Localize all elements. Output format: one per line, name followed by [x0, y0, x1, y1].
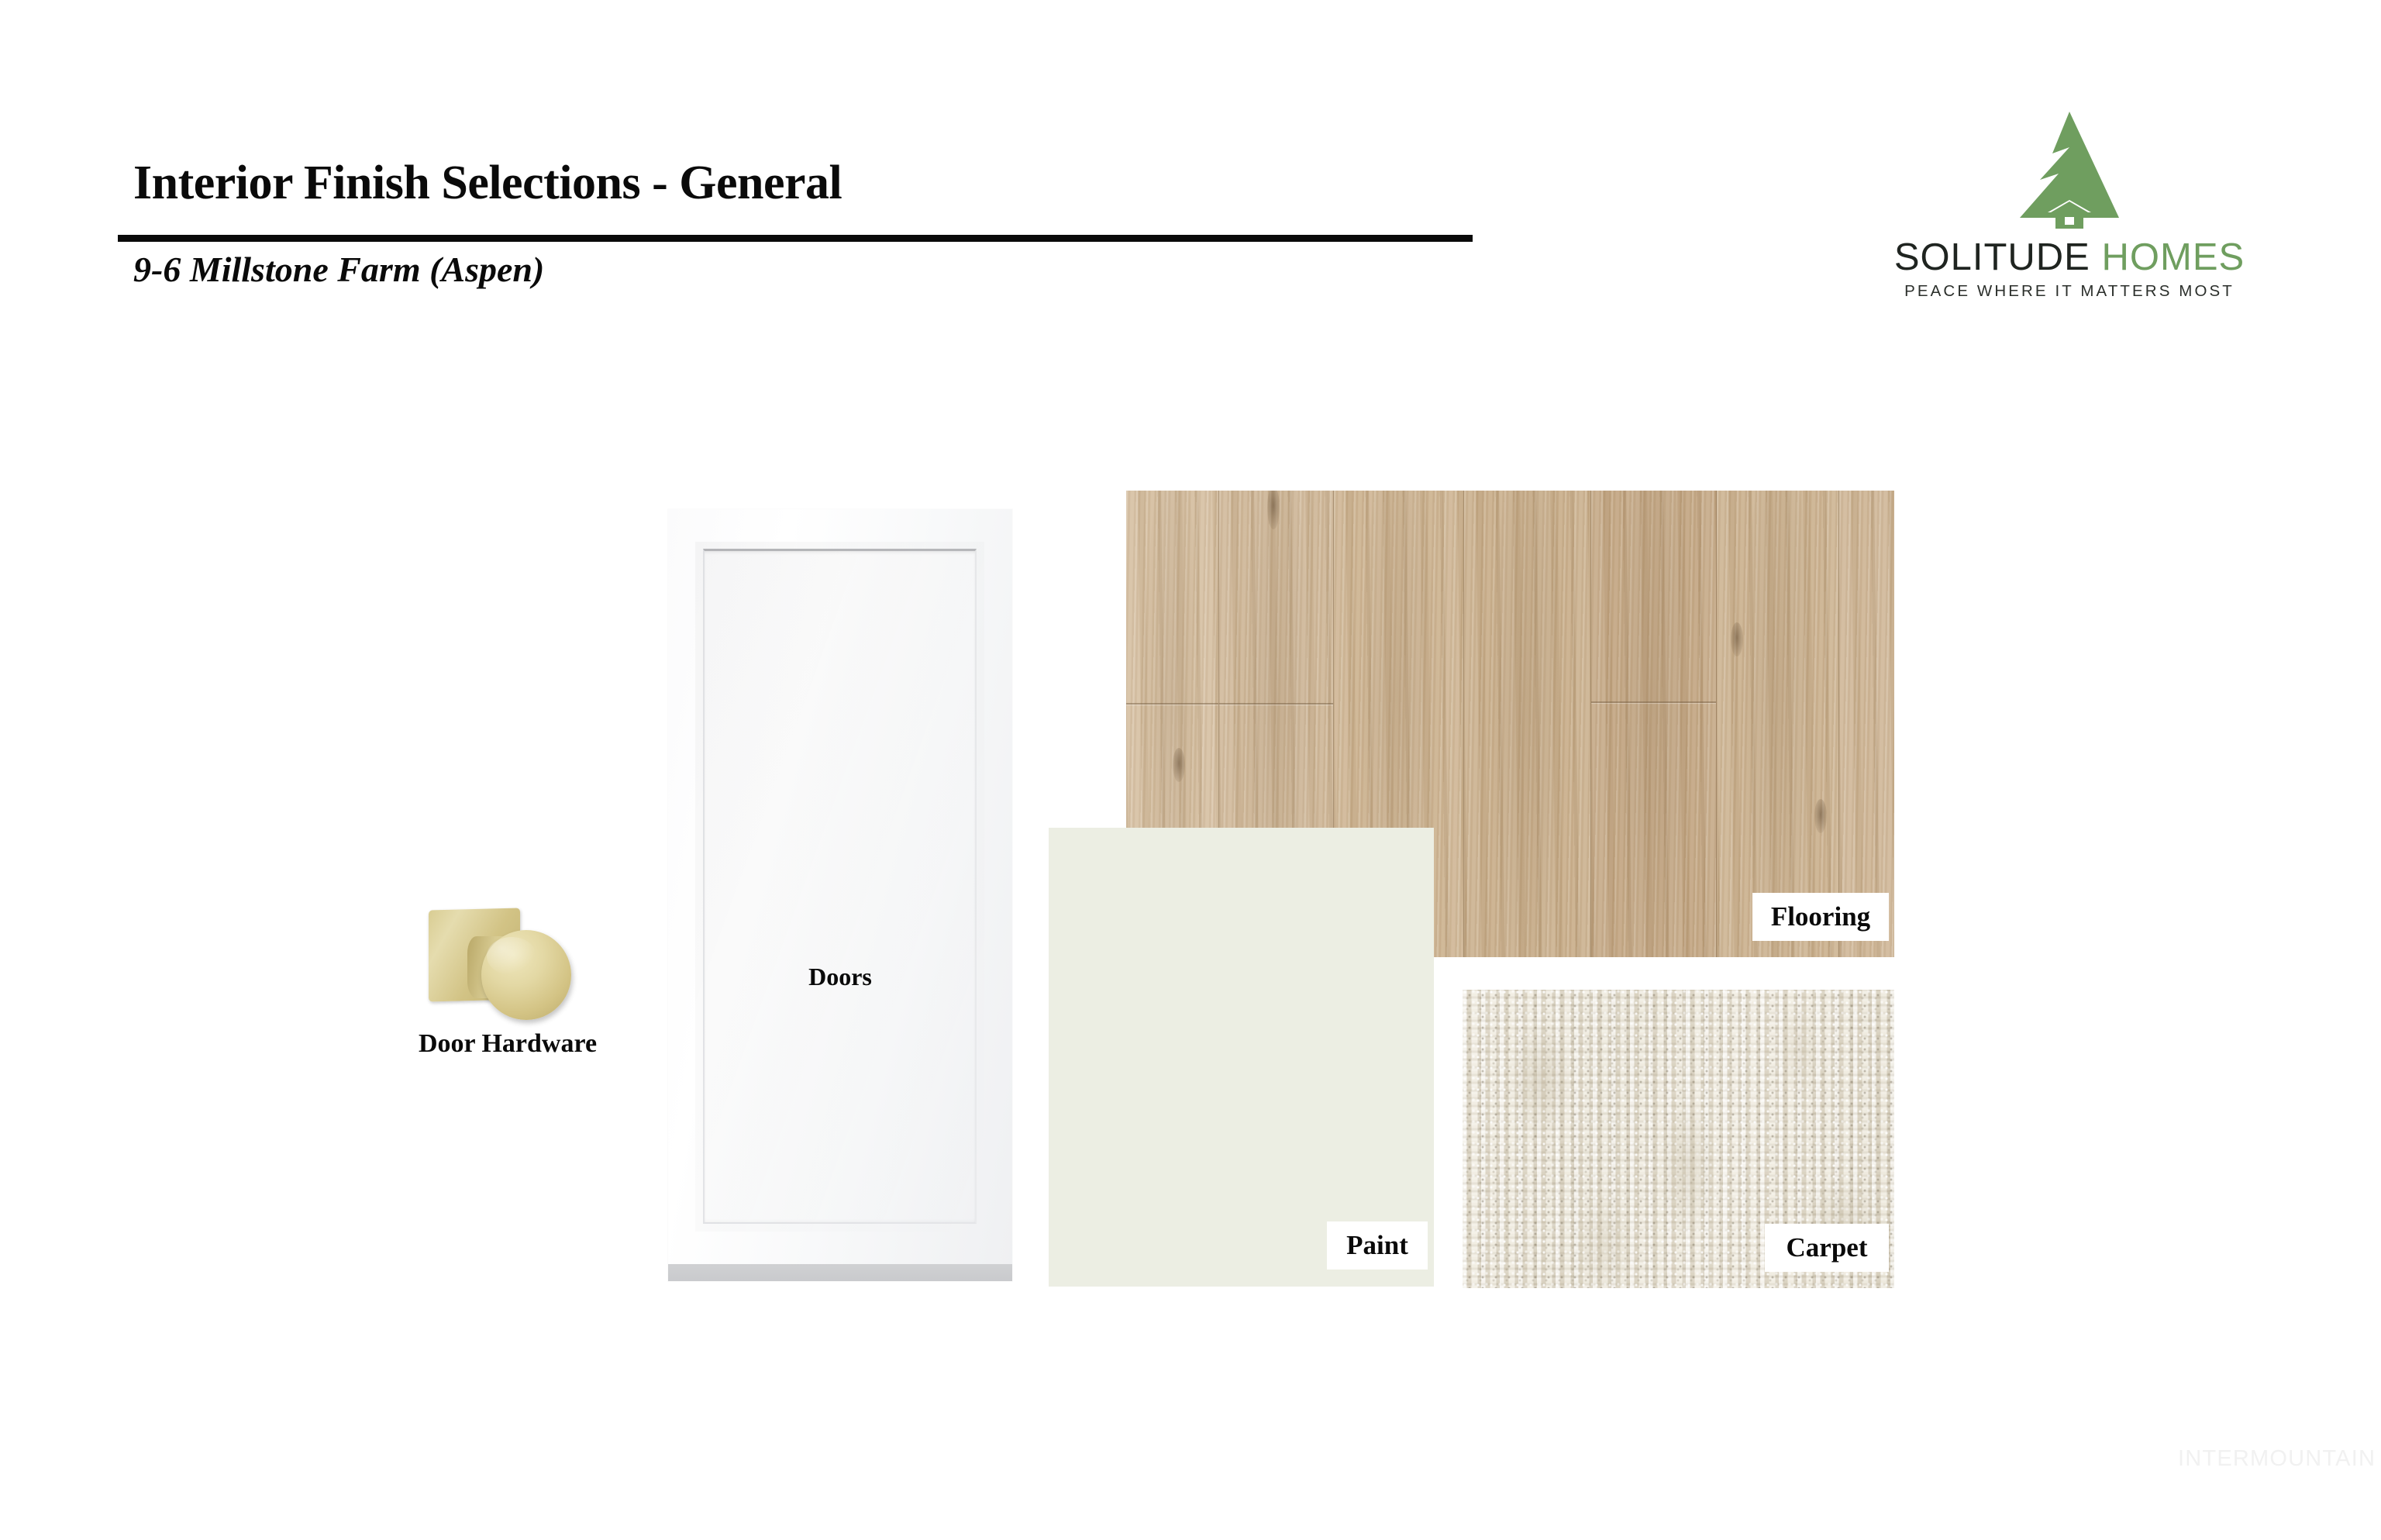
pine-tree-with-house-icon — [1992, 109, 2147, 229]
company-logo: SOLITUDE HOMES PEACE WHERE IT MATTERS MO… — [1876, 109, 2263, 310]
carpet-sample: Carpet — [1463, 990, 1894, 1288]
flooring-plank — [1839, 491, 1894, 957]
finish-selection-board: Interior Finish Selections - General 9-6… — [0, 0, 2381, 1540]
doors-image: Doors — [668, 509, 1012, 1281]
title-divider — [118, 235, 1473, 242]
door-recessed-panel — [703, 549, 977, 1224]
door-bottom-edge — [668, 1264, 1012, 1281]
door-hardware-label: Door Hardware — [364, 1029, 651, 1059]
flooring-label: Flooring — [1752, 893, 1889, 941]
logo-wordmark-homes: HOMES — [2102, 236, 2245, 278]
paint-label: Paint — [1327, 1221, 1428, 1270]
carpet-label: Carpet — [1765, 1224, 1889, 1272]
paint-sample: Paint — [1049, 828, 1434, 1287]
logo-tagline: PEACE WHERE IT MATTERS MOST — [1876, 284, 2263, 300]
page-title: Interior Finish Selections - General — [133, 159, 842, 207]
flooring-plank — [1717, 491, 1839, 957]
knob-head — [481, 930, 571, 1020]
watermark-text: INTERMOUNTAIN — [2178, 1446, 2376, 1472]
flooring-plank — [1464, 491, 1591, 957]
logo-wordmark-solitude: SOLITUDE — [1894, 236, 2090, 278]
page-subtitle: 9-6 Millstone Farm (Aspen) — [133, 252, 544, 288]
logo-wordmark: SOLITUDE HOMES — [1876, 239, 2263, 277]
flooring-plank — [1591, 491, 1717, 957]
doors-label: Doors — [668, 963, 1012, 991]
